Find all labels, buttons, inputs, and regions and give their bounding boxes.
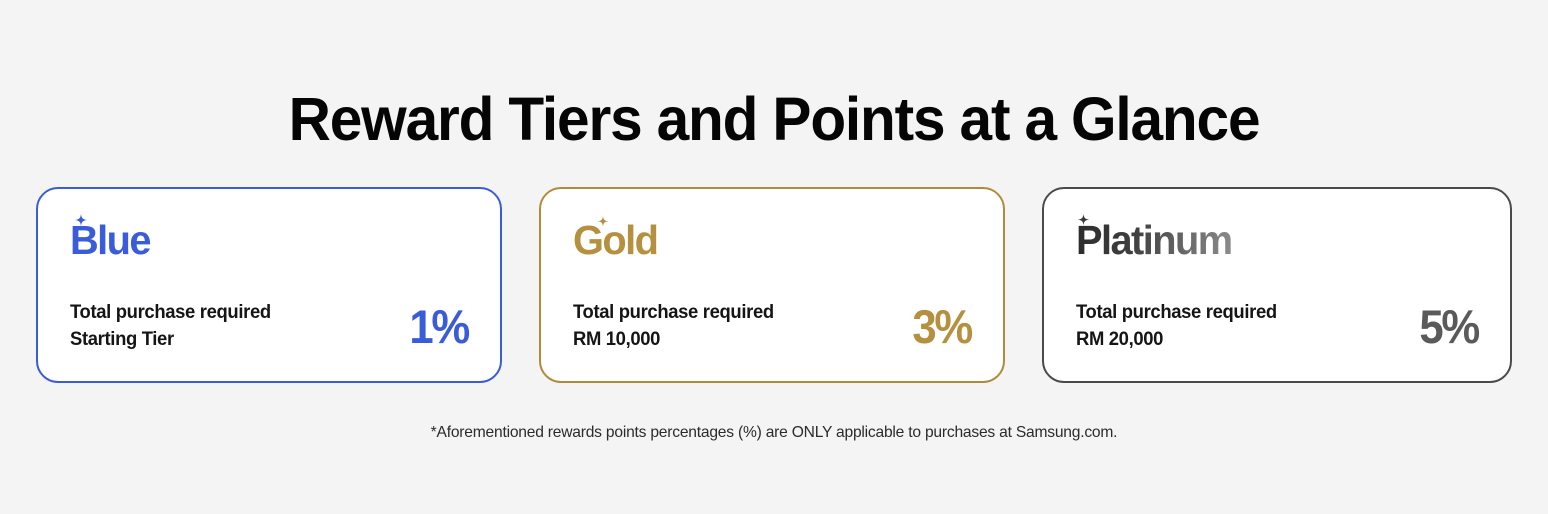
tier-requirement-label-gold: Total purchase required (573, 302, 774, 323)
tier-requirement-label-blue: Total purchase required (70, 302, 271, 323)
tier-requirement-value-gold: RM 10,000 (573, 326, 774, 353)
tier-logo-gold: Gold (573, 217, 973, 263)
tier-logo-blue: Blue (70, 217, 470, 263)
tier-requirement-value-blue: Starting Tier (70, 326, 271, 353)
tier-requirement-platinum: Total purchase required RM 20,000 (1076, 299, 1277, 353)
tier-name-blue: Blue (70, 220, 150, 261)
tier-card-body-platinum: Total purchase required RM 20,000 5% (1076, 299, 1482, 353)
tier-requirement-label-platinum: Total purchase required (1076, 302, 1277, 323)
footnote-disclaimer: *Aforementioned rewards points percentag… (19, 424, 1528, 442)
tier-percent-blue: 1% (409, 303, 468, 350)
tier-logo-platinum: Platinum (1076, 217, 1480, 263)
tier-name-platinum: Platinum (1076, 220, 1232, 261)
tier-percent-platinum: 5% (1419, 303, 1478, 350)
tier-card-gold[interactable]: Gold Total purchase required RM 10,000 3… (539, 187, 1005, 383)
tier-requirement-value-platinum: RM 20,000 (1076, 326, 1277, 353)
tier-card-body-gold: Total purchase required RM 10,000 3% (573, 299, 975, 353)
tier-requirement-gold: Total purchase required RM 10,000 (573, 299, 774, 353)
tier-card-body-blue: Total purchase required Starting Tier 1% (70, 299, 472, 353)
tier-card-platinum[interactable]: Platinum Total purchase required RM 20,0… (1042, 187, 1512, 383)
tier-percent-gold: 3% (912, 303, 971, 350)
page-title: Reward Tiers and Points at a Glance (31, 87, 1517, 153)
reward-tiers-row: Blue Total purchase required Starting Ti… (36, 187, 1512, 385)
tier-card-blue[interactable]: Blue Total purchase required Starting Ti… (36, 187, 502, 383)
tier-name-gold: Gold (573, 220, 657, 261)
tier-requirement-blue: Total purchase required Starting Tier (70, 299, 271, 353)
